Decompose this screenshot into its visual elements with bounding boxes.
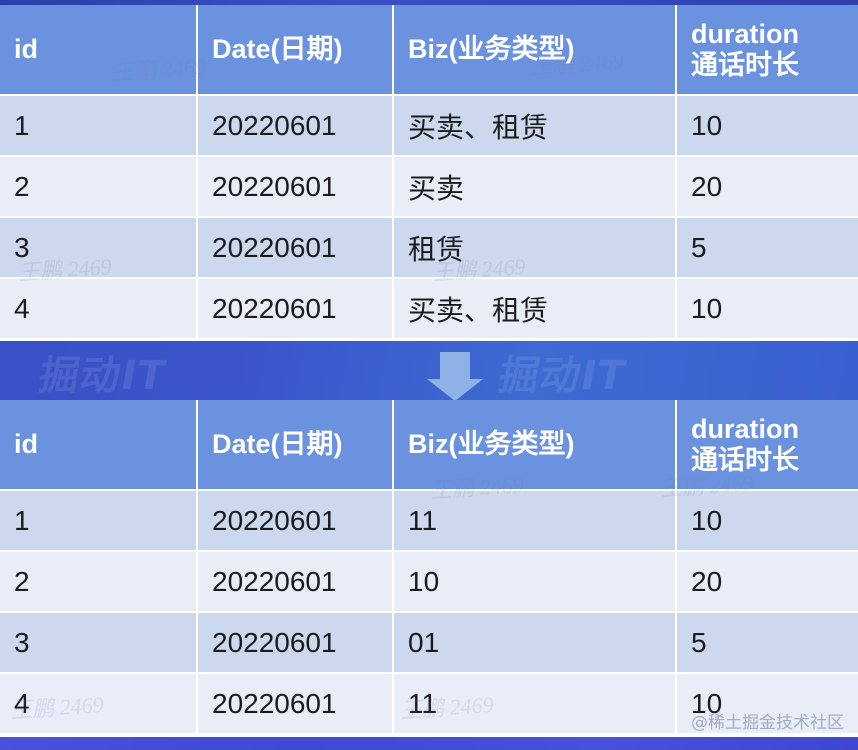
cell-date: 20220601 — [197, 612, 393, 673]
cell-date: 20220601 — [197, 551, 393, 612]
cell-duration: 20 — [676, 551, 858, 612]
cell-biz: 11 — [393, 673, 676, 734]
band-watermark: 掘动IT — [35, 343, 171, 400]
cell-biz: 买卖、租赁 — [393, 95, 676, 156]
table-row: 3 20220601 01 5 — [0, 612, 858, 673]
cell-id: 1 — [0, 95, 197, 156]
column-header-duration: duration 通话时长 — [676, 400, 858, 490]
table-before-body: 1 20220601 买卖、租赁 10 2 20220601 买卖 20 3 2… — [0, 95, 858, 339]
cell-id: 2 — [0, 156, 197, 217]
cell-duration: 10 — [676, 490, 858, 551]
table-row: 4 20220601 买卖、租赁 10 — [0, 278, 858, 339]
column-header-biz-line1: Biz(业务类型) — [408, 34, 574, 64]
cell-biz: 11 — [393, 490, 676, 551]
column-header-id-line1: id — [14, 34, 38, 64]
table-row: 1 20220601 买卖、租赁 10 — [0, 95, 858, 156]
cell-biz: 租赁 — [393, 217, 676, 278]
cell-date: 20220601 — [197, 278, 393, 339]
column-header-biz: Biz(业务类型) — [393, 5, 676, 95]
cell-biz: 买卖、租赁 — [393, 278, 676, 339]
cell-biz: 10 — [393, 551, 676, 612]
cell-id: 4 — [0, 278, 197, 339]
column-header-duration-line2: 通话时长 — [691, 445, 844, 475]
table-after-header: id Date(日期) Biz(业务类型) duration 通话时长 — [0, 400, 858, 490]
arrow-head — [427, 379, 483, 400]
table-before-header: id Date(日期) Biz(业务类型) duration 通话时长 — [0, 5, 858, 95]
cell-duration: 20 — [676, 156, 858, 217]
table-row: 2 20220601 买卖 20 — [0, 156, 858, 217]
arrow-shaft — [440, 352, 470, 380]
table-after: id Date(日期) Biz(业务类型) duration 通话时长 1 20… — [0, 400, 858, 735]
table-row: 1 20220601 11 10 — [0, 490, 858, 551]
column-header-biz-line1: Biz(业务类型) — [408, 429, 574, 459]
cell-date: 20220601 — [197, 156, 393, 217]
cell-id: 2 — [0, 551, 197, 612]
column-header-id-line1: id — [14, 429, 38, 459]
column-header-duration: duration 通话时长 — [676, 5, 858, 95]
table-header-row: id Date(日期) Biz(业务类型) duration 通话时长 — [0, 400, 858, 490]
cell-id: 1 — [0, 490, 197, 551]
table-row: 3 20220601 租赁 5 — [0, 217, 858, 278]
cell-id: 3 — [0, 612, 197, 673]
column-header-id: id — [0, 400, 197, 490]
cell-biz: 买卖 — [393, 156, 676, 217]
arrow-down-icon — [427, 352, 483, 400]
column-header-duration-line2: 通话时长 — [691, 50, 844, 80]
column-header-biz: Biz(业务类型) — [393, 400, 676, 490]
table-before: id Date(日期) Biz(业务类型) duration 通话时长 1 20… — [0, 5, 858, 340]
cell-id: 3 — [0, 217, 197, 278]
bottom-accent-strip — [0, 737, 858, 750]
cell-date: 20220601 — [197, 490, 393, 551]
table-after-body: 1 20220601 11 10 2 20220601 10 20 3 2022… — [0, 490, 858, 734]
column-header-date-line1: Date(日期) — [212, 429, 343, 459]
cell-duration: 10 — [676, 95, 858, 156]
column-header-duration-line1: duration — [691, 19, 799, 49]
table-row: 2 20220601 10 20 — [0, 551, 858, 612]
column-header-date-line1: Date(日期) — [212, 34, 343, 64]
transformation-band: 掘动IT 掘动IT — [0, 341, 858, 400]
column-header-id: id — [0, 5, 197, 95]
cell-duration: 10 — [676, 278, 858, 339]
cell-duration: 5 — [676, 217, 858, 278]
cell-biz: 01 — [393, 612, 676, 673]
cell-date: 20220601 — [197, 95, 393, 156]
table-header-row: id Date(日期) Biz(业务类型) duration 通话时长 — [0, 5, 858, 95]
column-header-date: Date(日期) — [197, 400, 393, 490]
cell-date: 20220601 — [197, 217, 393, 278]
column-header-date: Date(日期) — [197, 5, 393, 95]
source-watermark: @稀土掘金技术社区 — [691, 708, 844, 733]
column-header-duration-line1: duration — [691, 414, 799, 444]
cell-date: 20220601 — [197, 673, 393, 734]
cell-id: 4 — [0, 673, 197, 734]
cell-duration: 5 — [676, 612, 858, 673]
band-watermark: 掘动IT — [495, 343, 631, 400]
